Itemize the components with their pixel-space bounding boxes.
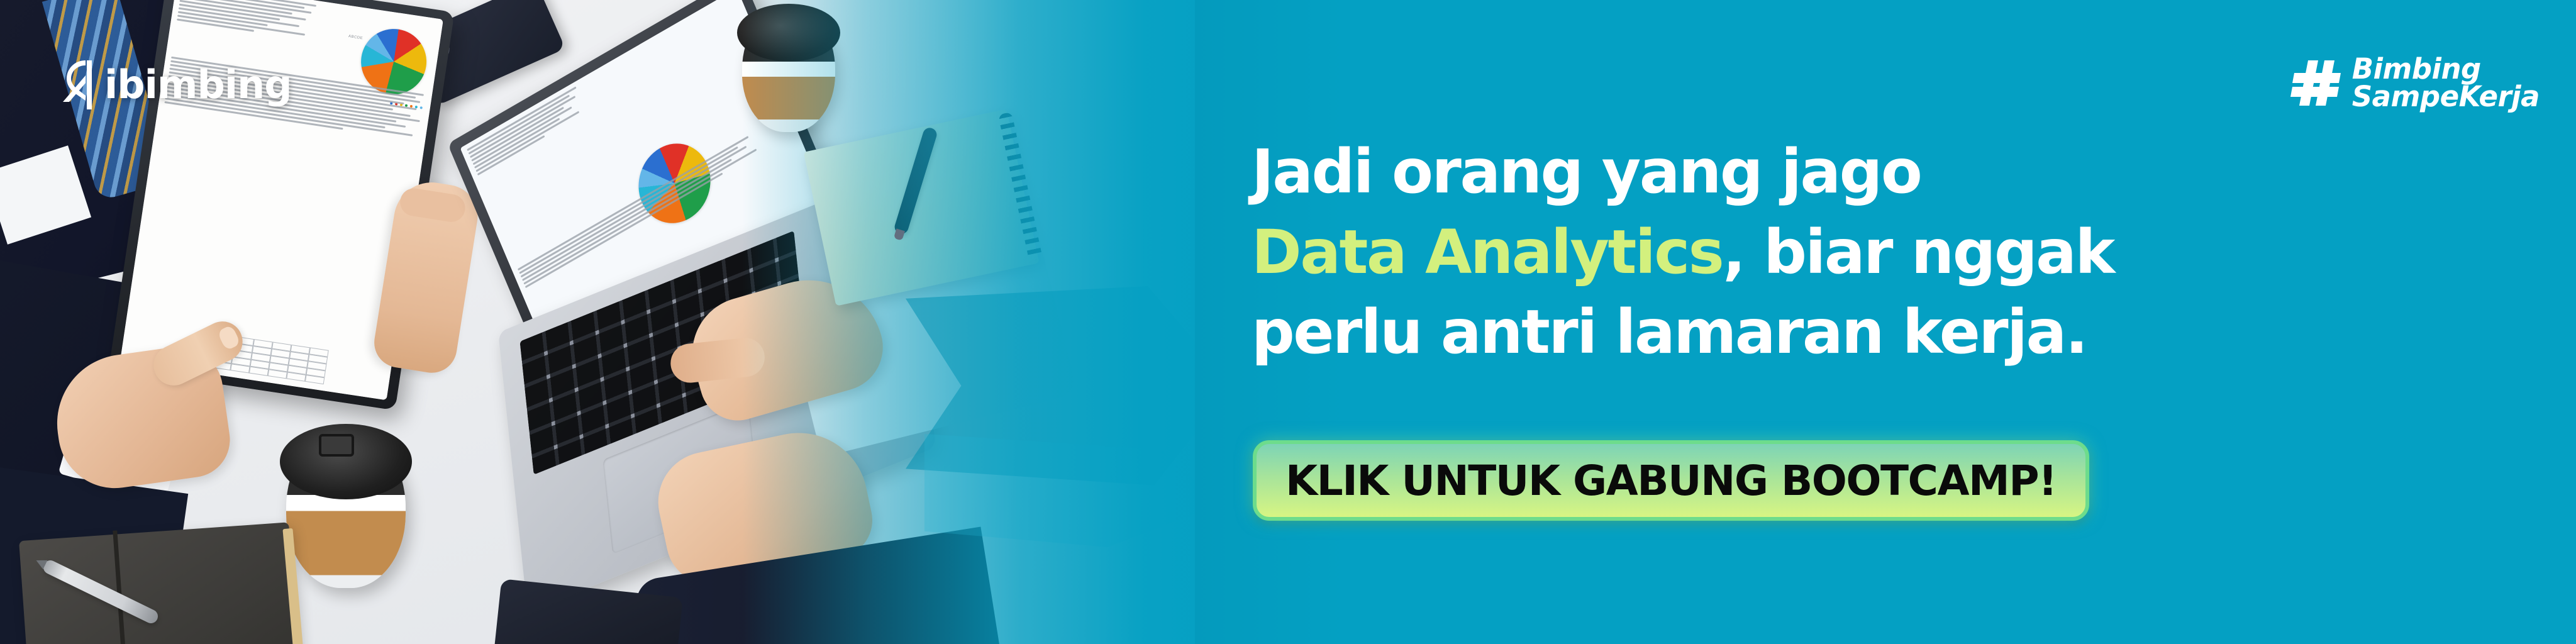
headline-block: Jadi orang yang jago Data Analytics, bia… [1252,132,2321,373]
teal-gradient-overlay [742,0,1195,644]
document-text-block [177,0,322,42]
cta-button-label: KLIK UNTUK GABUNG BOOTCAMP! [1285,457,2057,505]
brand-logo[interactable]: ibimbing [60,58,292,112]
coffee-cup-bottom [286,428,406,588]
hash-icon [2290,57,2343,109]
headline-accent-text: Data Analytics [1252,217,1723,287]
chart-legend-label: ABCDE [348,35,364,40]
hashtag-text: Bimbing SampeKerja [2352,55,2540,110]
cta-button[interactable]: KLIK UNTUK GABUNG BOOTCAMP! [1253,440,2089,521]
brand-wordmark: ibimbing [104,65,292,104]
hashtag-line-1: Bimbing [2352,55,2540,83]
headline-line-1: Jadi orang yang jago [1252,132,2321,213]
hashtag-logo: Bimbing SampeKerja [2290,55,2540,110]
cup-lid-bottom [280,424,412,499]
promo-banner: ABCDE [0,0,2576,644]
headline-line-2: Data Analytics, biar nggak [1252,213,2321,293]
pin-loop-icon [60,58,99,112]
dark-notebook [19,522,302,644]
headline-line-3: perlu antri lamaran kerja. [1252,292,2321,373]
headline-line-2-rest: , biar nggak [1723,217,2113,287]
hashtag-line-2: SampeKerja [2352,83,2540,111]
